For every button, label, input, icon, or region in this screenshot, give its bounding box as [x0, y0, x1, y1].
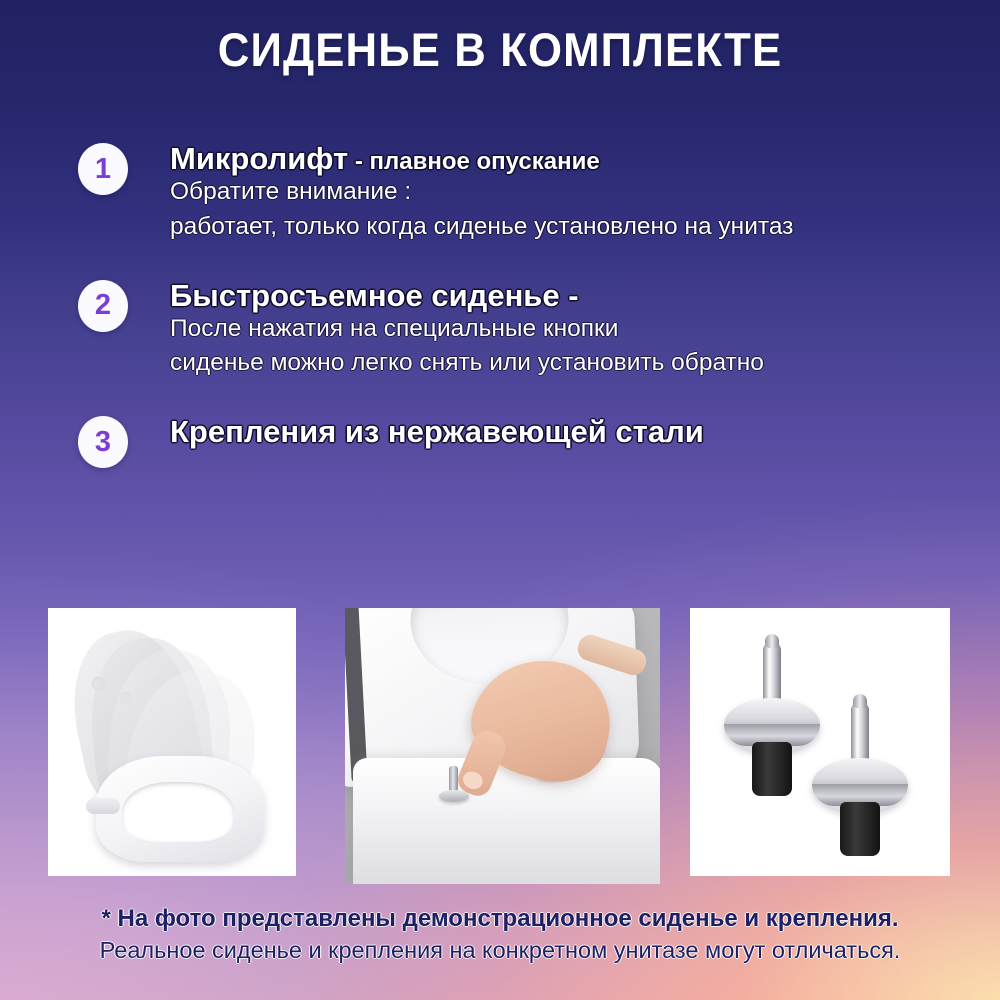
feature-subline-1-0: Обратите внимание : — [170, 175, 974, 209]
toilet-bowl-base — [353, 758, 660, 884]
toilet-scene — [345, 608, 660, 884]
feature-list: 1 Микролифт - плавное опускание Обратите… — [0, 143, 1000, 399]
feature-headline-main-2: Быстросъемное сиденье - — [170, 278, 579, 313]
feature-text-2: Быстросъемное сиденье - После нажатия на… — [170, 280, 1000, 381]
fixing-rubber-plug-left — [752, 742, 792, 796]
feature-headline-main-1: Микролифт — [170, 141, 348, 176]
fixing-rubber-plug-right — [840, 802, 880, 856]
feature-badge-1: 1 — [78, 143, 128, 195]
feature-headline-2: Быстросъемное сиденье - — [170, 280, 974, 311]
feature-badge-number-1: 1 — [95, 155, 111, 184]
footer-line-2: Реальное сиденье и крепления на конкретн… — [0, 935, 1000, 966]
feature-headline-suffix-1: - плавное опускание — [348, 148, 600, 175]
fingernail — [460, 769, 485, 792]
feature-subline-2-0: После нажатия на специальные кнопки — [170, 312, 974, 346]
feature-subline-2-1: сиденье можно легко снять или установить… — [170, 346, 974, 380]
photo-strip — [0, 608, 1000, 883]
feature-text-1: Микролифт - плавное опускание Обратите в… — [170, 143, 1000, 244]
footer-line-1: * На фото представлены демонстрационное … — [0, 903, 1000, 935]
footer-disclaimer: * На фото представлены демонстрационное … — [0, 903, 1000, 967]
promo-poster: СИДЕНЬЕ В КОМПЛЕКТЕ 1 Микролифт - плавно… — [0, 0, 1000, 1000]
feature-subline-1-1: работает, только когда сиденье установле… — [170, 210, 974, 244]
feature-badge-2: 2 — [78, 280, 128, 332]
seat-illustration — [48, 608, 296, 876]
feature-badge-3: 3 — [78, 416, 128, 468]
feature-item-1: 1 Микролифт - плавное опускание Обратите… — [0, 143, 1000, 244]
feature-headline-3: Крепления из нержавеющей стали — [170, 416, 974, 447]
photo-quick-release-seat — [345, 608, 660, 884]
feature-item-3: 3 Крепления из нержавеющей стали — [0, 416, 1000, 447]
feature-badge-number-3: 3 — [95, 428, 111, 457]
seat-ring — [96, 756, 264, 862]
seat-hinge — [86, 798, 120, 814]
feature-headline-1: Микролифт - плавное опускание — [170, 143, 974, 174]
photo-soft-close-seat — [48, 608, 296, 876]
page-title: СИДЕНЬЕ В КОМПЛЕКТЕ — [35, 22, 965, 77]
photo-stainless-fixings — [690, 608, 950, 876]
feature-headline-main-3: Крепления из нержавеющей стали — [170, 414, 704, 449]
feature-item-2: 2 Быстросъемное сиденье - После нажатия … — [0, 280, 1000, 381]
mount-pin-stem-left — [449, 766, 458, 792]
feature-badge-number-2: 2 — [95, 291, 111, 320]
feature-text-3: Крепления из нержавеющей стали — [170, 416, 1000, 447]
fixings-illustration — [690, 608, 950, 876]
